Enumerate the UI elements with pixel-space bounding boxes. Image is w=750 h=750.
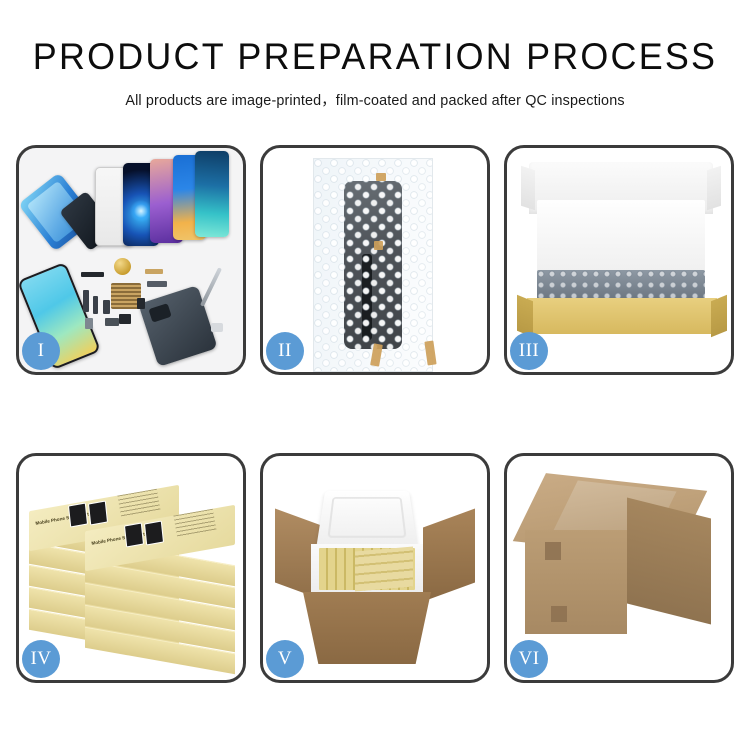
process-step-panel-5[interactable]: V [260, 453, 490, 683]
box-label-phone-image [124, 522, 144, 547]
step-badge-3: III [510, 332, 548, 370]
styrofoam-lid [316, 491, 418, 549]
carton-tape-upper [545, 542, 561, 560]
tape-piece-4 [424, 340, 436, 365]
packed-yellow-boxes-row2 [355, 546, 413, 591]
part-flex-cable-gold [145, 269, 163, 274]
carton-tape-lower [551, 606, 567, 622]
carton-front-face [525, 530, 627, 634]
process-step-grid: I II III [16, 145, 734, 683]
process-step-panel-1[interactable]: I [16, 145, 246, 375]
bubble-texture [314, 159, 432, 371]
carton-flap-right [423, 509, 475, 602]
page-header: PRODUCT PREPARATION PROCESS All products… [0, 0, 750, 110]
part-bracket [147, 281, 167, 287]
process-step-panel-3[interactable]: III [504, 145, 734, 375]
part-bar-6 [119, 314, 131, 324]
carton-front-face [303, 592, 431, 664]
kraft-box-tray [527, 298, 717, 334]
page-title: PRODUCT PREPARATION PROCESS [11, 38, 739, 75]
part-bar-4 [103, 300, 110, 314]
page-subtitle: All products are image-printed，film-coat… [4, 89, 747, 110]
carton-side-face [627, 498, 711, 625]
box-label-phone-image [68, 502, 88, 527]
part-bar-1 [81, 272, 104, 277]
screwdriver-tool [200, 267, 222, 307]
step-badge-1: I [22, 332, 60, 370]
step-badge-5: V [266, 640, 304, 678]
process-step-panel-6[interactable]: VI [504, 453, 734, 683]
part-bar-2 [83, 290, 89, 312]
box-label-phone-image [88, 500, 108, 525]
step-badge-6: VI [510, 640, 548, 678]
step-badge-4: IV [22, 640, 60, 678]
part-bar-5 [137, 298, 145, 309]
bubble-wrap-bag [313, 158, 433, 372]
part-bar-7 [105, 318, 119, 326]
speaker-module [114, 258, 131, 275]
box-label-phone-image [144, 520, 164, 545]
part-bar-3 [93, 296, 98, 314]
sim-tray [85, 318, 93, 329]
tape-piece-1 [376, 173, 386, 181]
process-step-panel-2[interactable]: II [260, 145, 490, 375]
earpiece-speaker [211, 323, 223, 332]
tape-piece-2 [374, 241, 383, 250]
phone-screen-teal [195, 151, 229, 237]
foam-sheet [537, 200, 705, 272]
step-badge-2: II [266, 332, 304, 370]
process-step-panel-4[interactable]: Mobile Phone Spare Parts Mobile Phone Sp… [16, 453, 246, 683]
